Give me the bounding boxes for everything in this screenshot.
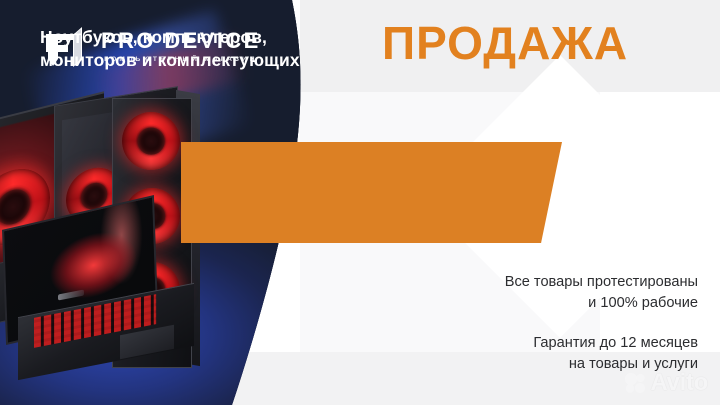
benefit-item: Все товары протестированы и 100% рабочие	[505, 272, 698, 313]
category-banner	[181, 142, 562, 243]
advertisement-banner: PRO DEVICE КОМПЬЮТЕРНЫЙ МАГАЗИН ПРОДАЖА …	[0, 0, 720, 405]
avito-label: Avito	[650, 369, 708, 397]
category-banner-text: Ноутбуков, компьютеров, мониторов и комп…	[40, 26, 300, 73]
rgb-fan-icon	[122, 112, 180, 170]
benefits-list: Все товары протестированы и 100% рабочие…	[505, 272, 698, 375]
avito-dots-icon	[624, 372, 646, 394]
avito-watermark: Avito	[624, 369, 708, 397]
page-title: ПРОДАЖА	[382, 20, 628, 66]
benefits-spacer	[505, 313, 698, 333]
